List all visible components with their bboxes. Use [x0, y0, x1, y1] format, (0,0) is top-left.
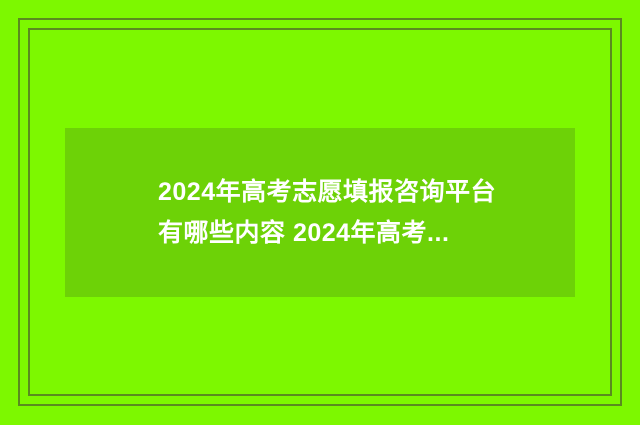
- headline-line-2: 有哪些内容 2024年高考...: [158, 213, 555, 254]
- poster-canvas: 2024年高考志愿填报咨询平台 有哪些内容 2024年高考...: [0, 0, 640, 425]
- headline-band: 2024年高考志愿填报咨询平台 有哪些内容 2024年高考...: [65, 128, 575, 297]
- headline-line-1: 2024年高考志愿填报咨询平台: [158, 172, 555, 213]
